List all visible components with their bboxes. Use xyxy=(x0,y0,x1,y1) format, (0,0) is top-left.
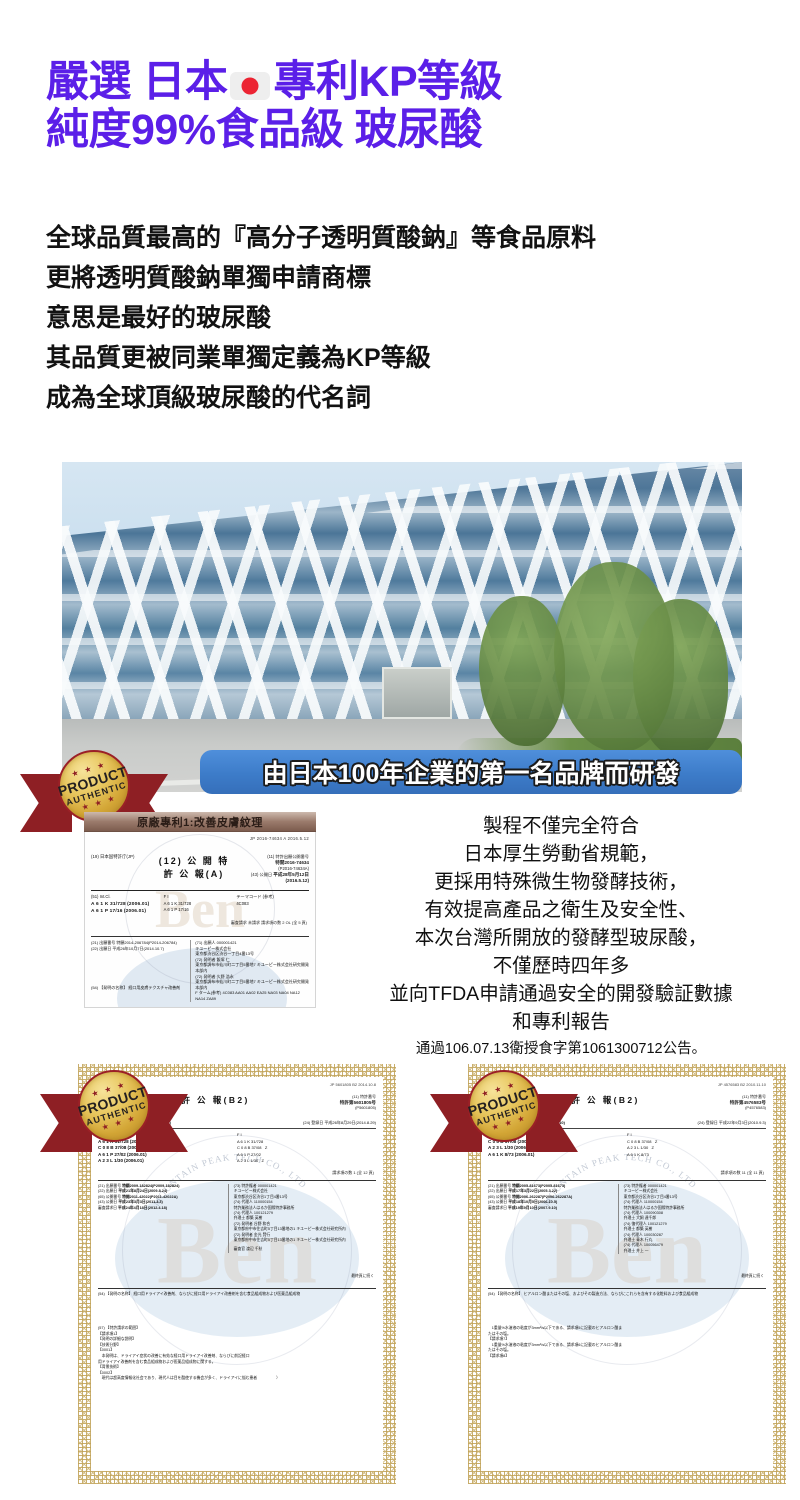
patent-2-agent2-no: 100121279 xyxy=(254,1211,273,1215)
patent-3-agent3-no: 100121279 xyxy=(648,1222,667,1226)
seal-disc: ★ ★ ★ PRODUCT AUTHENTIC ★ ★ ★ xyxy=(468,1070,540,1142)
patent-2-fi-code: C 0 8 B 37/08 xyxy=(237,1145,261,1150)
patent-1-inventor-2: 久野 浩永 xyxy=(217,974,234,979)
japan-flag-icon xyxy=(230,72,270,100)
patent-1-office-label: (19) 日本国特許庁(JP) xyxy=(91,854,153,860)
patent-1-gazette-title: (12) 公 開 特 許 公 報(A) xyxy=(153,854,235,880)
process-description: 製程不僅完全符合 日本厚生勞動省規範， 更採用特殊微生物發酵技術， 有效提高產品… xyxy=(330,812,792,1060)
patent-2-holder-col: (73) 特許権者 000001421 キユーピー株式会社 東京都渋谷区渋谷1丁… xyxy=(234,1184,376,1253)
patent-1-pubdate: 平成28年5月12日(2016.5.12) xyxy=(273,872,309,883)
patent-3-fi-n: Z xyxy=(655,1139,657,1144)
patent-2-inventor-2-addr: 東京都府中市住吉町5丁目13番地の1 キユーピー株式会社研究所内 xyxy=(234,1238,376,1243)
patent-2-continue-note: 最終頁に続く xyxy=(351,1274,374,1279)
patent-2-jp-code: JP 5601805 B2 2014.10.8 xyxy=(330,1082,376,1087)
patent-2-fi-n: Z xyxy=(265,1145,267,1150)
patent-2-openno-label: (65) 公開番号 xyxy=(98,1195,121,1199)
patent-3-agent5-name: 弁理士 井上 一 xyxy=(624,1249,766,1254)
patent-3-patentee-label: (73) 特許権者 xyxy=(624,1184,647,1188)
process-line: 製程不僅完全符合 xyxy=(330,812,792,840)
patent-3-reg-date: 平成22年9月3日(2010.9.3) xyxy=(719,1120,766,1125)
patent-1-app-col: (21) 出願番号 特願2014-206784(P2014-206784) (2… xyxy=(91,940,191,1002)
patent-2-patno-alt: (P5601805) xyxy=(288,1105,376,1111)
patent-3-jp-code: JP 4576583 B2 2010.11.10 xyxy=(718,1082,766,1087)
intro-line: 其品質更被同業單獨定義為KP等級 xyxy=(46,338,776,378)
patent-3-appno: 特願2005-81673(P2005-81673) xyxy=(512,1184,565,1188)
patent-2-openno: 特開2011-42022(P2011-42022A) xyxy=(122,1195,178,1199)
patent-1-appdate-label: (22) 出願日 xyxy=(91,946,111,951)
patent-2-opendate-label: (43) 公開日 xyxy=(98,1200,117,1204)
patent-2-examiner: 渡辺 千秋 xyxy=(246,1247,262,1251)
patent-3-opendate: 平成18年10月5日(2006.10.5) xyxy=(508,1200,557,1204)
patent-1-appno-label: (21) 出願番号 xyxy=(91,940,115,945)
patent-3-agent4-label: (74) 代理人 xyxy=(624,1233,643,1237)
patent-2-patentee-label: (73) 特許権者 xyxy=(234,1184,257,1188)
patent-3-agent-no: 110000154 xyxy=(644,1200,663,1204)
process-line: 本次台灣所開放的發酵型玻尿酸， xyxy=(330,924,792,952)
headquarters-photo xyxy=(62,462,742,792)
patent-2-reg-date: 平成26年8月29日(2014.8.29) xyxy=(324,1120,376,1125)
patent-2-agent-no: 110000154 xyxy=(254,1200,273,1204)
patent-3-continue-note: 最終頁に続く xyxy=(741,1274,764,1279)
patent-1-ipc-block: (51) Int.Cl. A 6 1 K 31/728 (2006.01) A … xyxy=(91,894,309,916)
headline-line-1: 嚴選 日本專利KP等級 xyxy=(46,58,766,106)
process-line: 並向TFDA申請通過安全的開發驗証數據 xyxy=(330,980,792,1008)
patent-2-examiner-label: 審査官 xyxy=(234,1247,245,1251)
tfda-announcement-note: 通過106.07.13衛授食字第1061300712公告。 xyxy=(330,1038,792,1060)
patent-1-inventor-1-addr: 東京都調布市仙川町二丁目5番地7 キユーピー株式会社研究開発本部内 xyxy=(195,962,309,973)
patent-1-ipc-code: A 6 1 K 31/728 xyxy=(91,902,126,907)
patent-2-patno-meta: (11) 特許番号 特許第5601805号 (P5601805) xyxy=(288,1094,376,1111)
patent-2-title: 経口用ドライアイ改善剤、ならびに経口用ドライアイ改善剤を含む食品組成物および医薬… xyxy=(133,1292,300,1296)
headline-line-1-part-b: 專利KP等級 xyxy=(273,58,502,106)
patent-1-ipc-code: A 6 1 P 17/16 xyxy=(91,909,123,914)
patent-1-rule xyxy=(91,890,309,891)
patent-3-patentee-no: 000001421 xyxy=(648,1184,667,1188)
page-title: 嚴選 日本專利KP等級 純度99%食品級 玻尿酸 xyxy=(46,58,766,154)
patent-3-claims-mark: 請求項の数 11 (全 11 頁) xyxy=(721,1170,764,1176)
patent-3-openno: 特開2006-262287(P2006-262287A) xyxy=(512,1195,572,1199)
patent-1-fi-col: F I A 6 1 K 31/728 A 6 1 P 17/16 xyxy=(164,894,237,916)
patent-3-agent2-label: (74) 代理人 xyxy=(624,1211,643,1215)
patent-2-patentee-no: 000001421 xyxy=(258,1184,277,1188)
patent-document-1: 原廠專利1:改善皮膚紋理 Ben JP 2016-74634 A 2016.5.… xyxy=(84,812,316,1008)
patent-3-fi-code: C 0 8 B 37/08 xyxy=(627,1139,651,1144)
patent-1-exam-note: 審査請求 未請求 請求項の数 2 OL (全 5 頁) xyxy=(231,920,307,926)
patent-1-inventor-label: (72) 発明者 xyxy=(195,974,215,979)
patent-1-theme-code: 4C083 xyxy=(236,901,309,908)
patent-3-appno-label: (21) 出願番号 xyxy=(488,1184,511,1188)
headline-line-2: 純度99%食品級 玻尿酸 xyxy=(46,106,766,154)
patent-2-fi-code: A 6 1 P 27/02 xyxy=(237,1152,261,1157)
patent-2-appno: 特願2009-182824(P2009-182824) xyxy=(122,1184,179,1188)
patent-3-appdate-label: (22) 出願日 xyxy=(488,1189,507,1193)
patent-1-invention-title: (54) 【発明の名称】 経口用皮膚テクスチャ改善剤 xyxy=(91,985,309,991)
patent-1-applicant-label: (71) 出願人 xyxy=(195,940,215,945)
patent-2-claims: (57) 【特許請求の範囲】 【請求項1】 【発明の詳細な説明】 【技術分野】 … xyxy=(98,1326,376,1382)
patent-2-appdate: 平成21年8月24日(2009.8.24) xyxy=(118,1189,167,1193)
patent-2-opendate: 平成23年3月3日(2011.3.3) xyxy=(118,1200,163,1204)
patent-3-agent3-label: (74) 復代理人 xyxy=(624,1222,647,1226)
headline-line-1-part-a: 嚴選 日本 xyxy=(46,58,227,106)
patent-1-pub-meta: (11) 特許出願公開番号 特開2016-74634 (P2016-74634A… xyxy=(235,854,309,884)
patent-1-pubno: 特開2016-74634 xyxy=(275,860,309,865)
patent-3-fi-code: A 2 3 L 1/30 xyxy=(627,1145,648,1150)
patent-1-pubdate-label: (43) 公開日 xyxy=(251,872,272,877)
patent-2-parties: (21) 出願番号 特願2009-182824(P2009-182824) (2… xyxy=(98,1180,376,1253)
patent-1-ipc-col: (51) Int.Cl. A 6 1 K 31/728 (2006.01) A … xyxy=(91,894,164,916)
seal-disc: ★ ★ ★ PRODUCT AUTHENTIC ★ ★ ★ xyxy=(78,1070,150,1142)
patent-3-title-label: (54) 【発明の名称】 xyxy=(488,1292,522,1296)
patent-1-jp-code: JP 2016-74634 A 2016.5.12 xyxy=(250,836,309,841)
patent-3-parties: (21) 出願番号 特願2005-81673(P2005-81673) (22)… xyxy=(488,1180,766,1254)
patent-3-opendate-label: (43) 公開日 xyxy=(488,1200,507,1204)
patent-2-app-col: (21) 出願番号 特願2009-182824(P2009-182824) (2… xyxy=(98,1184,229,1253)
authentic-seal-badge: ★ ★ ★ PRODUCT AUTHENTIC ★ ★ ★ xyxy=(66,1064,162,1160)
patent-1-appdate: 平成26年10月7日(2014.10.7) xyxy=(112,946,164,951)
process-line: 有效提高產品之衛生及安全性、 xyxy=(330,896,792,924)
patent-2-patno: 特許第5601805号 xyxy=(340,1100,376,1105)
process-line: 日本厚生勞動省規範， xyxy=(330,840,792,868)
patent-2-appdate-label: (22) 出願日 xyxy=(98,1189,117,1193)
patent-1-header-label: 原廠專利1:改善皮膚紋理 xyxy=(137,814,263,830)
patent-1-parties: (21) 出願番号 特願2014-206784(P2014-206784) (2… xyxy=(91,936,309,1002)
patent-3-agent4-no: 100030287 xyxy=(644,1233,663,1237)
patent-1-ipc-ver: (2006.01) xyxy=(127,902,149,907)
intro-line: 全球品質最高的『高分子透明質酸鈉』等食品原料 xyxy=(46,218,776,258)
patent-1-body: Ben JP 2016-74634 A 2016.5.12 (19) 日本国特許… xyxy=(84,832,316,1008)
patent-3-openno-label: (65) 公開番号 xyxy=(488,1195,511,1199)
patent-2-inventor-1: 谷野 和合 xyxy=(254,1222,270,1226)
patent-3-reg-label: (24) 登録日 xyxy=(698,1120,718,1125)
intro-line: 意思是最好的玻尿酸 xyxy=(46,298,776,338)
patent-1-theme-col: テーマコード (参考) 4C083 xyxy=(236,894,309,916)
tree-icon xyxy=(479,596,565,746)
process-line: 不僅歷時四年多 xyxy=(330,952,792,980)
patent-2-invention-title: (54) 【発明の名称】 経口用ドライアイ改善剤、ならびに経口用ドライアイ改善剤… xyxy=(98,1288,376,1297)
process-line: 更採用特殊微生物發酵技術， xyxy=(330,868,792,896)
patent-3-fi-code: A 6 1 K 8/73 xyxy=(627,1152,649,1157)
patent-3-patno-meta: (11) 特許番号 特許第4576583号 (P4576583) xyxy=(678,1094,766,1111)
patent-2-inventor-label: (72) 発明者 xyxy=(234,1222,253,1226)
patent-2-title-label: (54) 【発明の名称】 xyxy=(98,1292,132,1296)
intro-line: 更將透明質酸鈉單獨申請商標 xyxy=(46,258,776,298)
patent-1-ipc-ver: (2006.01) xyxy=(124,909,146,914)
patent-1-header-bar: 原廠專利1:改善皮膚紋理 xyxy=(84,812,316,832)
patent-3-agent2-no: 100090308 xyxy=(644,1211,663,1215)
process-line: 和專利報告 xyxy=(330,1008,792,1036)
patent-3-holder-col: (73) 特許権者 000001421 キユーピー株式会社 東京都渋谷区渋谷1丁… xyxy=(624,1184,766,1254)
patent-2-appno-label: (21) 出願番号 xyxy=(98,1184,121,1188)
patent-1-title-row: (19) 日本国特許庁(JP) (12) 公 開 特 許 公 報(A) (11)… xyxy=(85,854,315,884)
patent-3-patno-alt: (P4576583) xyxy=(678,1105,766,1111)
patent-3-agent-label: (74) 代理人 xyxy=(624,1200,643,1204)
photo-canvas xyxy=(62,462,742,792)
patent-3-claims: 1重量%水溶液の粘度が3mm²/s以下である、請求項5に記載のヒアルロン酸ま た… xyxy=(488,1326,766,1360)
patent-3-patno: 特許第4576583号 xyxy=(730,1100,766,1105)
patent-2-inventor-label: (72) 発明者 xyxy=(234,1233,253,1237)
patent-3-appdate: 平成17年3月22日(2005.3.22) xyxy=(508,1189,557,1193)
entrance-door xyxy=(382,667,452,719)
patent-3-invention-title: (54) 【発明の名称】 ヒアルロン酸またはその塩、およびその製造方法、ならびに… xyxy=(488,1288,766,1297)
patent-1-fterm-label: F ターム(参考) xyxy=(195,990,221,995)
patent-2-exam-label: 審査請求日 xyxy=(98,1206,117,1210)
patent-3-title: ヒアルロン酸またはその塩、およびその製造方法、ならびにこれらを含有する化粧料およ… xyxy=(523,1292,698,1296)
patent-2-agent2-label: (74) 代理人 xyxy=(234,1211,253,1215)
patent-1-appno: 特願2014-206784(P2014-206784) xyxy=(116,940,177,945)
intro-line: 成為全球頂級玻尿酸的代名詞 xyxy=(46,378,776,418)
patent-1-applicant-col: (71) 出願人 000001421 キユーピー株式会社 東京都渋谷区渋谷一丁目… xyxy=(195,940,309,1002)
patent-3-agent5-label: (74) 代理人 xyxy=(624,1243,643,1247)
patent-3-exam-date: 平成19年9月10日(2007.9.10) xyxy=(508,1206,557,1210)
patent-3-agent5-no: 100056479 xyxy=(644,1243,663,1247)
product-info-page: 嚴選 日本專利KP等級 純度99%食品級 玻尿酸 全球品質最高的『高分子透明質酸… xyxy=(0,0,800,1500)
authentic-seal-badge: ★ ★ ★ PRODUCT AUTHENTIC ★ ★ ★ xyxy=(456,1064,552,1160)
brand-banner: 由日本100年企業的第一名品牌而研發 xyxy=(200,750,742,794)
patent-3-claim-line: 【請求項8】 xyxy=(488,1354,766,1360)
patent-2-fi-code: A 6 1 K 31/728 xyxy=(237,1139,263,1144)
patent-1-applicant-no: 000001421 xyxy=(217,940,237,945)
patent-1-fi-code: A 6 1 P 17/16 xyxy=(164,907,237,914)
patent-2-exam-date: 平成24年4月18日(2012.4.18) xyxy=(118,1206,167,1210)
patent-2-claims-mark: 請求項の数 1 (全 12 頁) xyxy=(332,1170,374,1176)
brand-banner-text: 由日本100年企業的第一名品牌而研發 xyxy=(263,754,680,790)
patent-2-fi-n: Z xyxy=(262,1158,264,1163)
intro-paragraph: 全球品質最高的『高分子透明質酸鈉』等食品原料 更將透明質酸鈉單獨申請商標 意思是… xyxy=(46,218,776,418)
patent-2-desc-line: 現代は超高度情報化社会であり、現代人は目を酷使する機会が多く、ドライアイに悩む患… xyxy=(98,1376,376,1382)
patent-3-app-col: (21) 出願番号 特願2005-81673(P2005-81673) (22)… xyxy=(488,1184,619,1254)
patent-3-fi-n: Z xyxy=(652,1145,654,1150)
patent-3-fi-col: F I C 0 8 B 37/08 Z A 2 3 L 1/30 Z A 6 1… xyxy=(627,1132,766,1158)
patent-2-inventor-2: 金光 賢行 xyxy=(254,1233,270,1237)
patent-2-reg-label: (24) 登録日 xyxy=(303,1120,323,1125)
patent-2-fi-col: F I A 6 1 K 31/728 C 0 8 B 37/08 Z A 6 1… xyxy=(237,1132,376,1165)
patent-3-exam-label: 審査請求日 xyxy=(488,1206,507,1210)
patent-2-agent-label: (74) 代理人 xyxy=(234,1200,253,1204)
patent-2-fi-code: A 2 3 L 1/30 xyxy=(237,1158,258,1163)
